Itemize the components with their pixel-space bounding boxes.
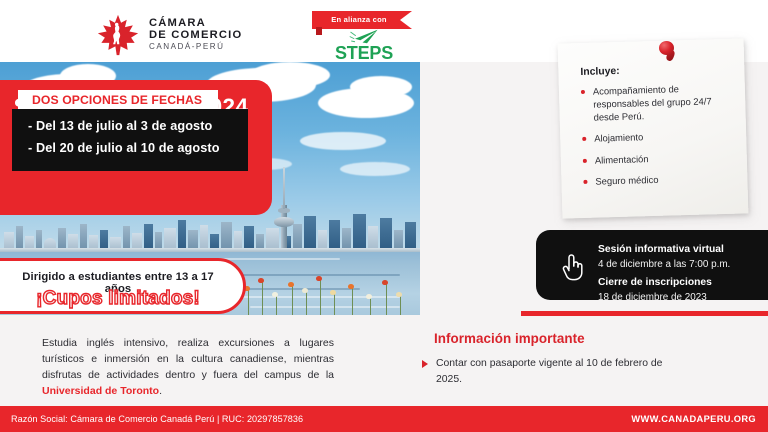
ribbon-tail xyxy=(316,27,322,35)
list-item: Contar con pasaporte vigente al 10 de fe… xyxy=(422,356,684,388)
triangle-bullet-icon xyxy=(422,360,428,368)
description-highlight: Universidad de Toronto xyxy=(42,385,159,397)
date-option-1: - Del 13 de julio al 3 de agosto xyxy=(28,116,248,138)
schedule-panel: Sesión informativa virtual 4 de diciembr… xyxy=(536,230,768,300)
description-text: Estudia inglés intensivo, realiza excurs… xyxy=(42,337,334,381)
chamber-logo-line2: DE COMERCIO xyxy=(149,30,242,42)
bullet-dot-icon xyxy=(583,180,587,184)
dates-header-strip: DOS OPCIONES DE FECHAS xyxy=(18,90,218,109)
list-item: Seguro médico xyxy=(583,172,733,189)
important-info-item: Contar con pasaporte vigente al 10 de fe… xyxy=(436,356,684,388)
flyer-canvas: CÁMARA DE COMERCIO CANADÁ-PERÚ En alianz… xyxy=(0,0,768,432)
closing-title: Cierre de inscripciones xyxy=(598,276,768,291)
includes-item-label: Seguro médico xyxy=(595,174,658,189)
footer-legal-text: Razón Social: Cámara de Comercio Canadá … xyxy=(11,414,303,424)
includes-title: Incluye: xyxy=(580,63,730,78)
date-option-2: - Del 20 de julio al 10 de agosto xyxy=(28,138,248,160)
bullet-dot-icon xyxy=(581,90,585,94)
includes-item-label: Alimentación xyxy=(595,153,649,167)
bullet-dot-icon xyxy=(582,137,586,141)
dates-box: - Del 13 de julio al 3 de agosto - Del 2… xyxy=(12,109,248,171)
maple-leaf-llama-logo xyxy=(96,14,140,56)
important-info-heading: Información importante xyxy=(434,331,585,346)
session-title: Sesión informativa virtual xyxy=(598,243,768,258)
audience-pill: Dirigido a estudiantes entre 13 a 17 año… xyxy=(0,258,246,314)
includes-sticky-note: Incluye: Acompañamiento de responsables … xyxy=(558,38,749,218)
steps-wordmark: STEPS xyxy=(325,44,403,62)
includes-item-label: Acompañamiento de responsables del grupo… xyxy=(593,82,732,125)
click-hand-icon xyxy=(558,252,586,282)
footer-bar: Razón Social: Cámara de Comercio Canadá … xyxy=(0,406,768,432)
list-item: Alimentación xyxy=(583,151,733,168)
footer-website-link[interactable]: WWW.CANADAPERU.ORG xyxy=(631,414,756,424)
bullet-dot-icon xyxy=(583,159,587,163)
alliance-ribbon-label: En alianza con xyxy=(312,11,412,28)
limited-spots-label: ¡Cupos limitados! xyxy=(9,288,227,310)
list-item: Acompañamiento de responsables del grupo… xyxy=(581,82,732,125)
list-item: Alojamiento xyxy=(582,129,732,146)
schedule-text: Sesión informativa virtual 4 de diciembr… xyxy=(598,243,768,306)
paper-plane-icon xyxy=(325,29,403,44)
chamber-logo-line3: CANADÁ-PERÚ xyxy=(149,43,242,52)
program-description: Estudia inglés intensivo, realiza excurs… xyxy=(42,336,334,400)
red-divider-line xyxy=(521,311,768,316)
chamber-logo: CÁMARA DE COMERCIO CANADÁ-PERÚ xyxy=(96,14,242,56)
photo-foreground-flowers xyxy=(236,267,420,315)
red-pushpin-icon xyxy=(657,41,679,65)
closing-date: 18 de diciembre de 2023 xyxy=(598,291,768,305)
photo-skyline-buildings xyxy=(0,212,420,250)
session-date: 4 de diciembre a las 7:00 p.m. xyxy=(598,258,768,272)
chamber-logo-text: CÁMARA DE COMERCIO CANADÁ-PERÚ xyxy=(149,18,242,51)
includes-item-label: Alojamiento xyxy=(594,132,643,146)
alliance-ribbon: En alianza con xyxy=(312,11,412,29)
description-text-after: . xyxy=(159,385,162,397)
